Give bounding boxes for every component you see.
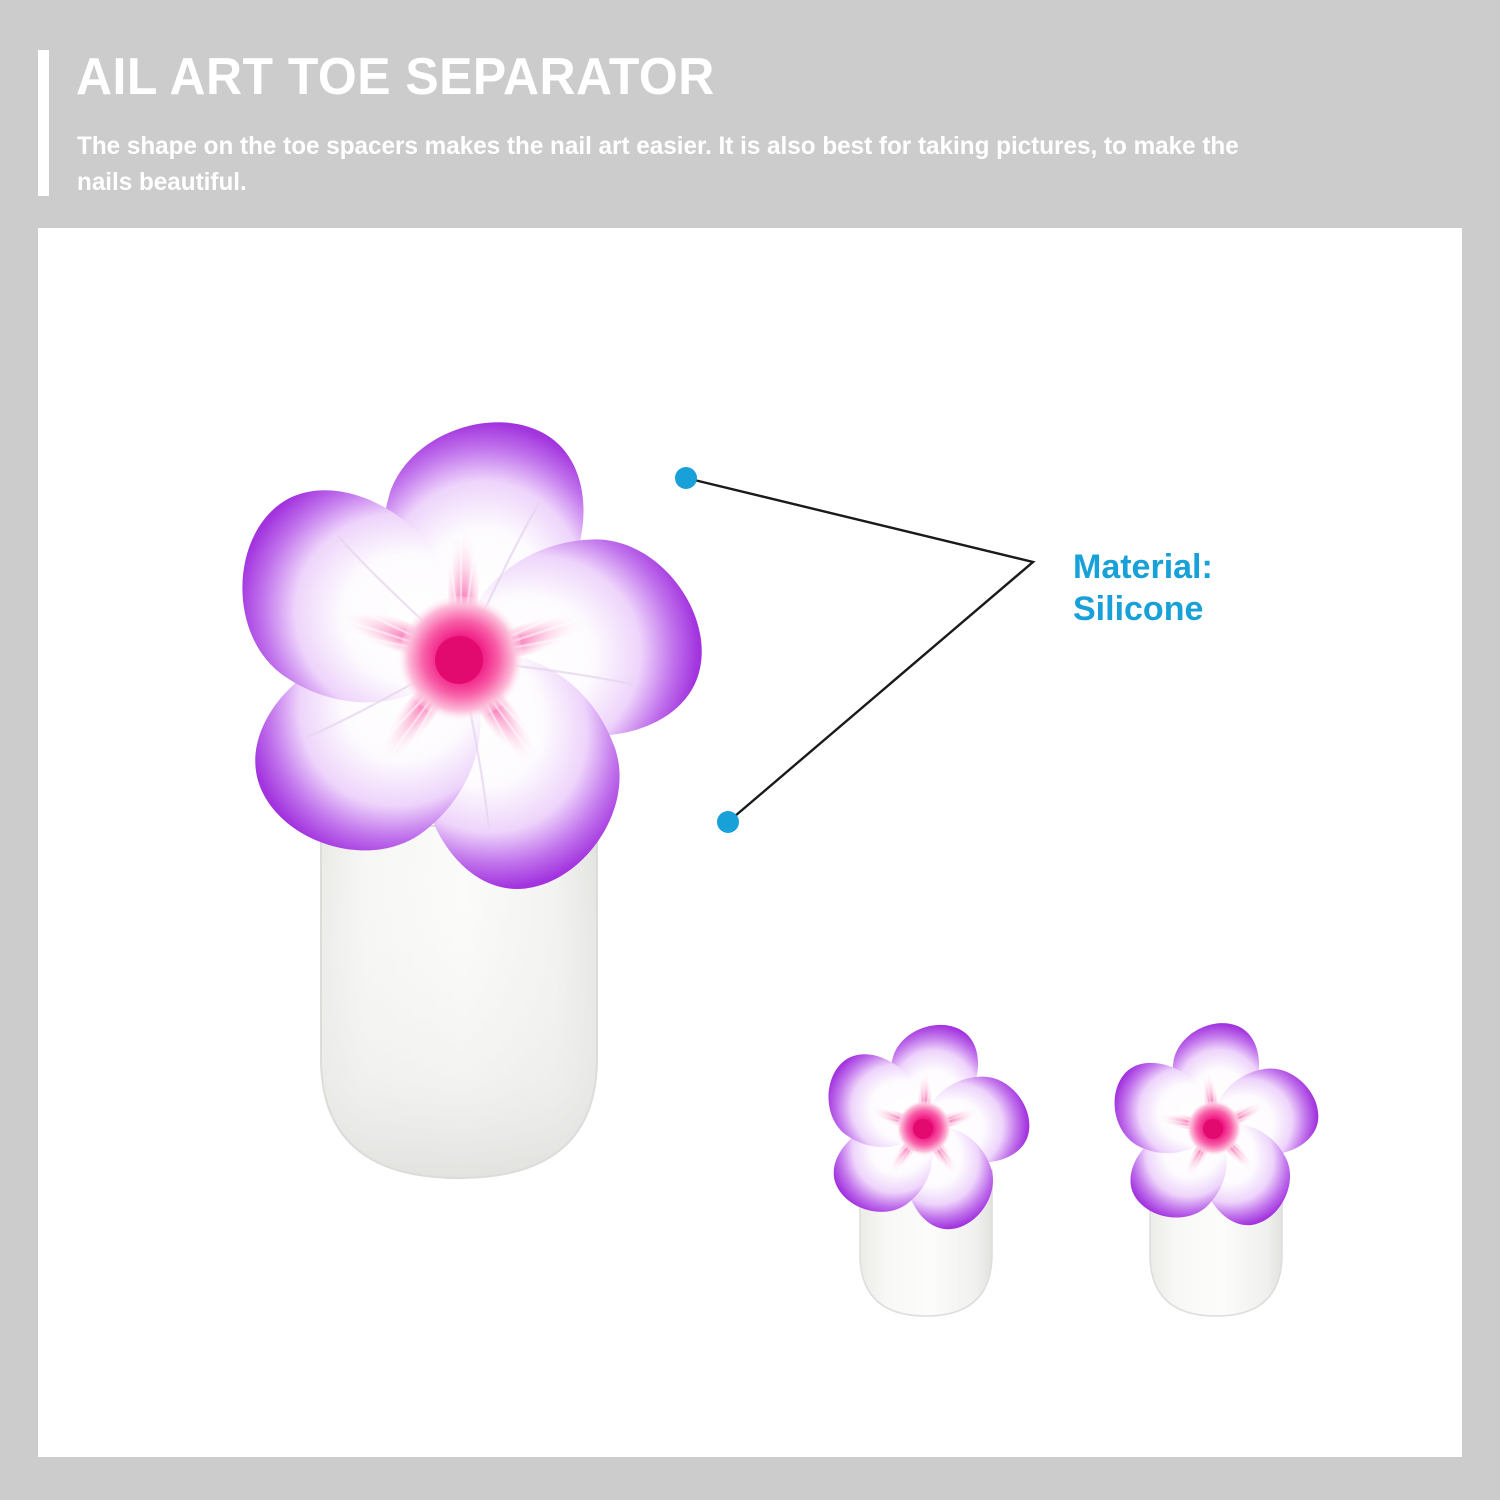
page-subtitle: The shape on the toe spacers makes the n… <box>77 128 1260 200</box>
title-accent-bar <box>38 50 49 196</box>
page-title: AIL ART TOE SEPARATOR <box>76 48 715 106</box>
toe-separator-main <box>193 368 733 1228</box>
toe-separator-small-left <box>808 1008 1040 1328</box>
toe-separator-small-right <box>1098 1008 1330 1328</box>
material-callout-label: Material:Silicone <box>1073 546 1213 630</box>
flower-small-right <box>1107 1018 1330 1239</box>
header-band: AIL ART TOE SEPARATOR The shape on the t… <box>0 0 1500 228</box>
material-label-line-1: Material: <box>1073 548 1213 586</box>
material-label-line-2: Silicone <box>1073 590 1203 628</box>
leader-line-path <box>686 478 1033 822</box>
infographic-page: AIL ART TOE SEPARATOR The shape on the t… <box>0 0 1500 1500</box>
flower-small-left <box>816 1025 1039 1243</box>
product-image-panel: Material:Silicone <box>38 228 1462 1457</box>
flower-large <box>213 422 723 920</box>
